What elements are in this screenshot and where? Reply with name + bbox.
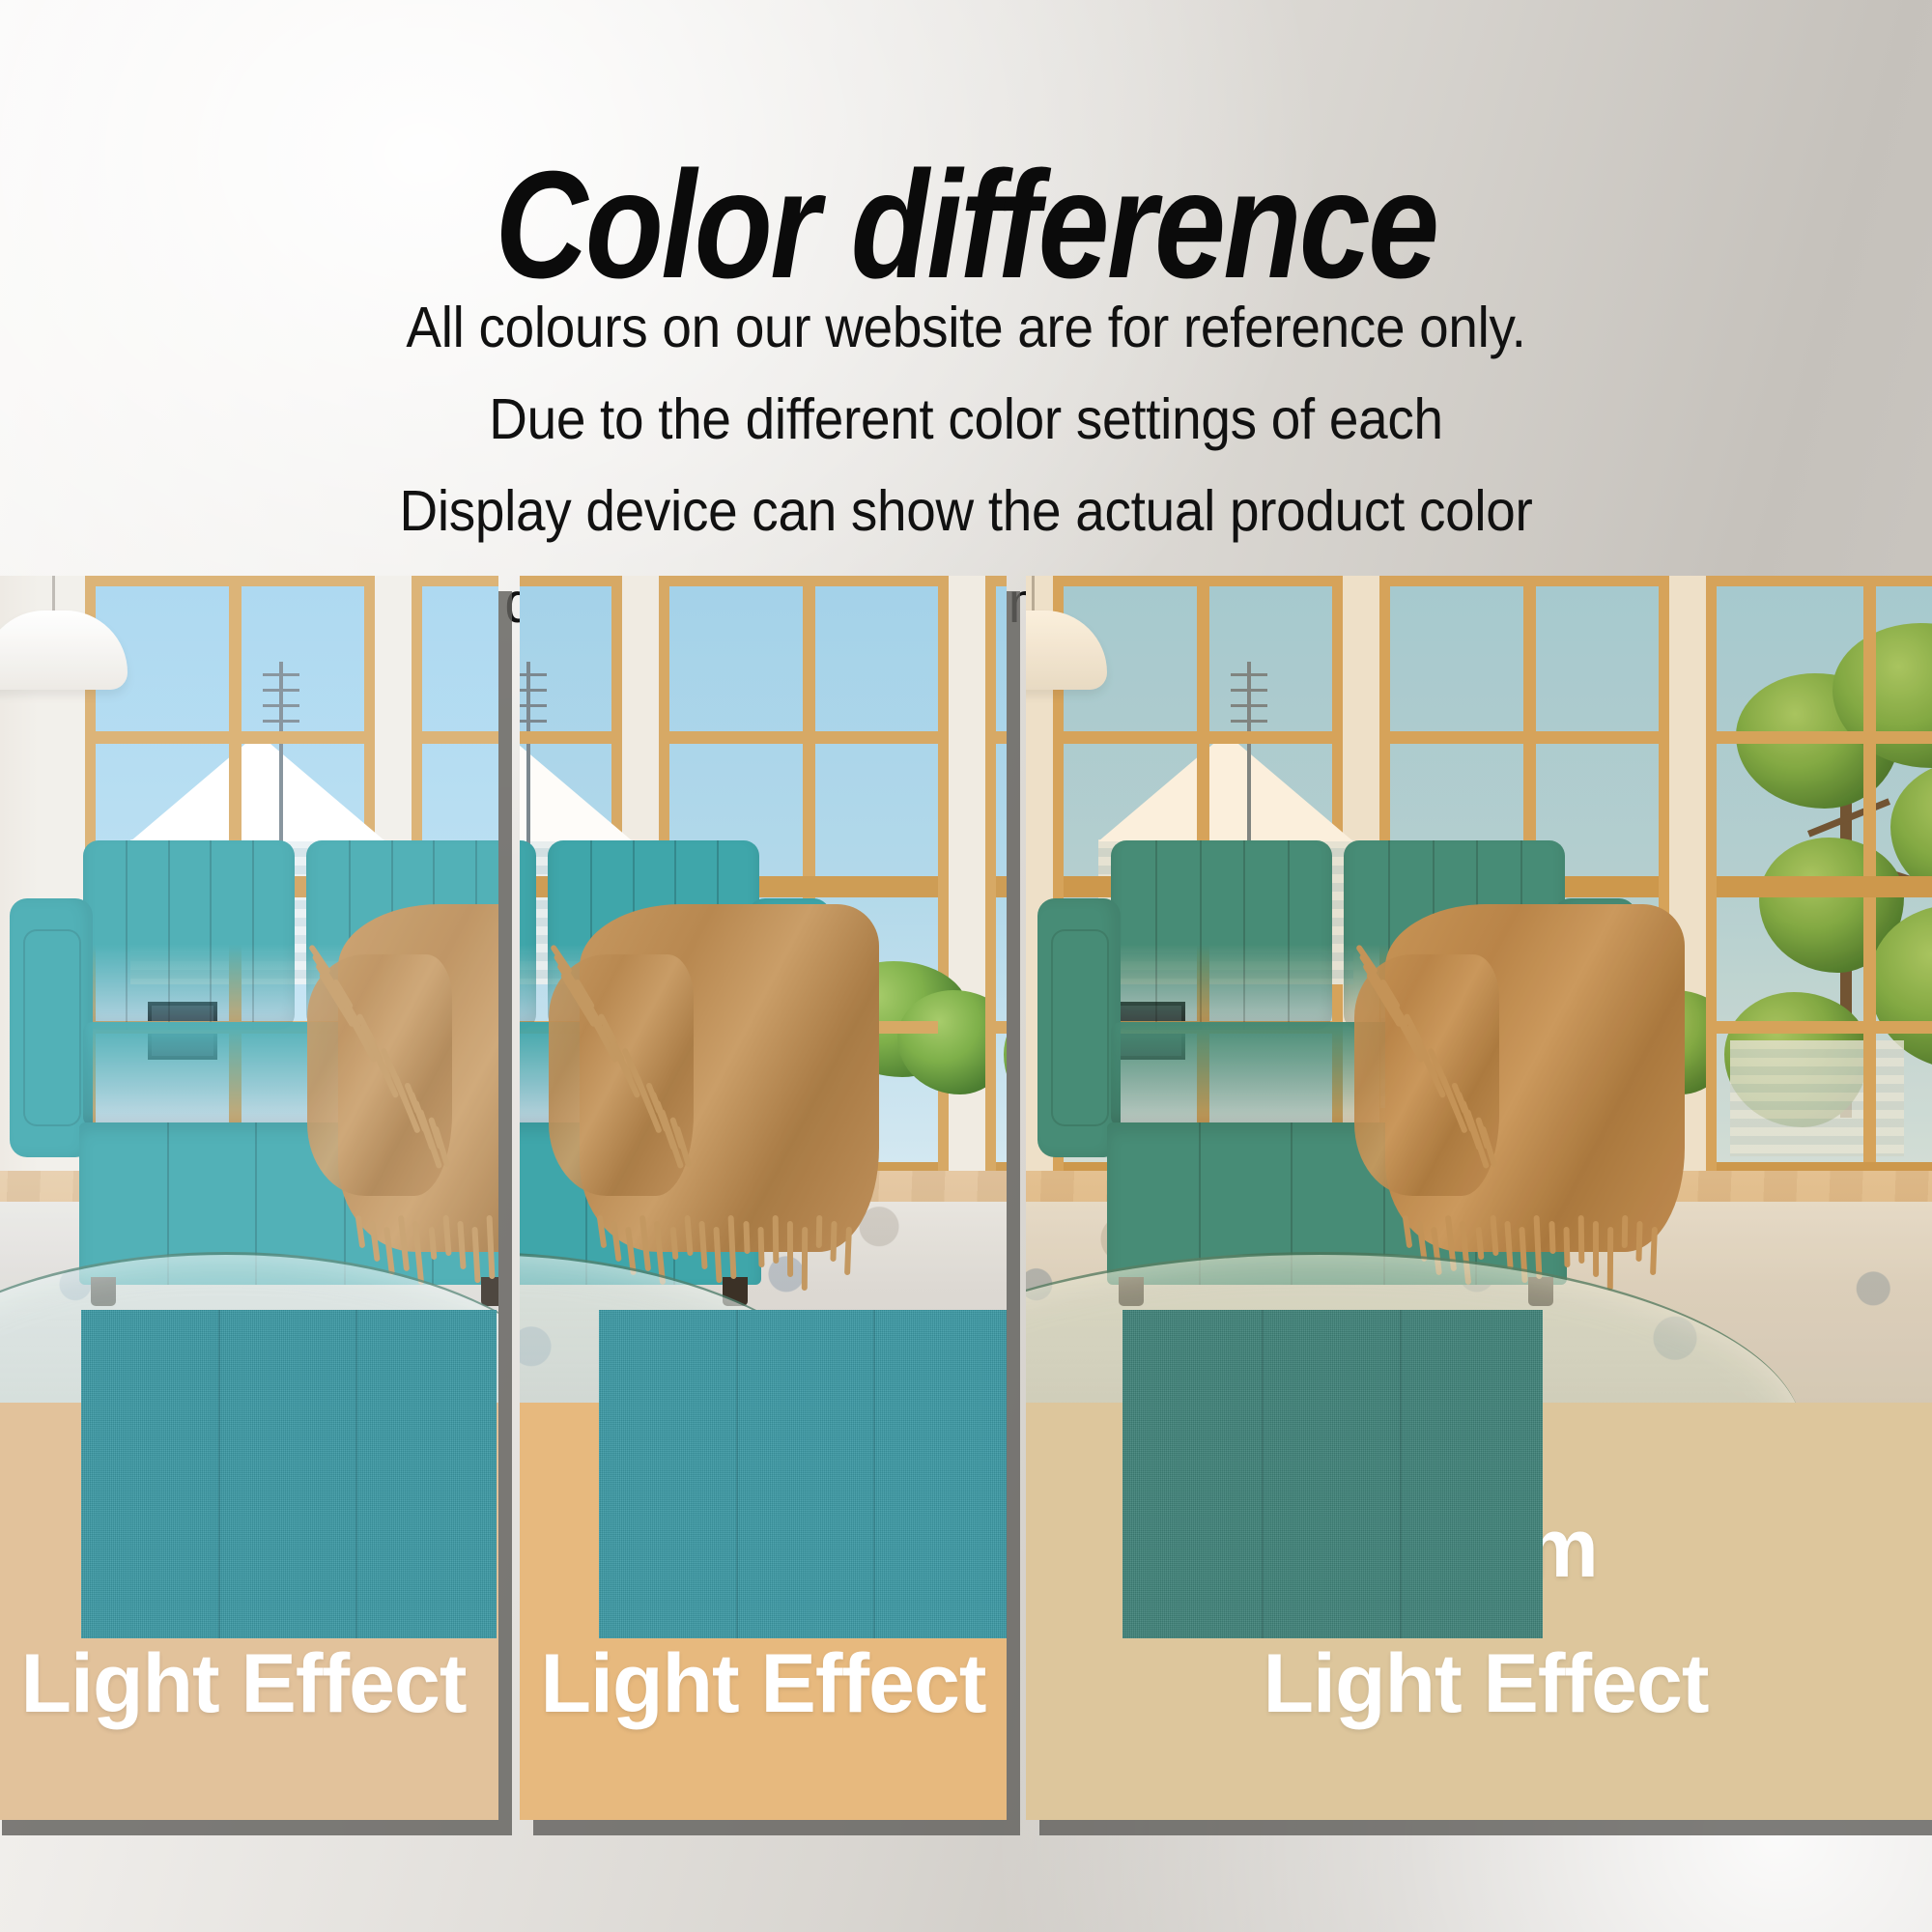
window-mullion-horizontal: [669, 731, 938, 744]
sofa-arm-panel-left: [23, 929, 81, 1126]
foliage: [1004, 992, 1007, 1127]
fabric-swatch-calt[interactable]: [81, 1310, 497, 1638]
blanket-fringe: [1607, 1227, 1613, 1291]
blanket-fringe: [802, 1227, 808, 1291]
page-title: Color difference: [155, 149, 1777, 301]
neighbour-house-gable: [520, 733, 633, 841]
blanket-fringe: [1650, 1227, 1658, 1275]
window-mullion-horizontal: [996, 876, 1007, 897]
light-effect-panel-warm[interactable]: WarmLight Effect: [1026, 576, 1932, 1820]
panel-subtitle-natural: Light Effect: [520, 1642, 1007, 1725]
room-photo-warm: [1026, 576, 1932, 1403]
neighbour-house-body: [1730, 1040, 1904, 1156]
sofa-arm-panel-left: [1051, 929, 1109, 1126]
window-mullion-horizontal: [1717, 731, 1932, 744]
window-mullion-horizontal: [1390, 731, 1659, 744]
swatch-seam: [1262, 1310, 1264, 1638]
light-effect-panel-calt[interactable]: CaltLight Effect: [0, 576, 498, 1820]
cushion-channel: [168, 840, 170, 1030]
window-mullion-horizontal: [520, 731, 611, 744]
cushion-channel: [252, 840, 254, 1030]
description-line-3: Display device can show the actual produ…: [203, 466, 1730, 557]
swatch-seam: [736, 1310, 738, 1638]
neighbour-house-gable: [130, 733, 385, 841]
neighbour-house-gable: [1098, 733, 1353, 841]
blanket-fringe: [773, 1215, 780, 1264]
panel-subtitle-warm: Light Effect: [1026, 1642, 1932, 1725]
blanket-fringe: [830, 1221, 837, 1262]
window-mullion-horizontal: [422, 731, 498, 744]
cushion-channel: [1200, 840, 1202, 1030]
sofa-back-cushion: [1111, 840, 1332, 1030]
room-scene-calt: [0, 576, 498, 1403]
tv-antenna: [279, 662, 283, 845]
window-mullion-horizontal: [996, 1021, 1007, 1034]
window-mullion-horizontal: [96, 731, 364, 744]
cushion-channel: [126, 840, 128, 1030]
comparison-panels: CaltLight EffectNaturalLight EffectWarmL…: [0, 576, 1932, 1820]
blanket-fringe: [816, 1215, 823, 1248]
blanket-fringe: [1563, 1227, 1570, 1267]
room-photo-calt: [0, 576, 498, 1403]
fabric-swatch-warm[interactable]: [1122, 1310, 1543, 1638]
blanket-fringe: [1622, 1215, 1629, 1248]
room-photo-natural: [520, 576, 1007, 1403]
blanket-fringe: [757, 1227, 764, 1267]
window-unit-3: [985, 576, 1007, 1213]
panel-subtitle-calt: Light Effect: [0, 1642, 498, 1725]
cushion-channel: [1243, 840, 1245, 1030]
room-scene-warm: [1026, 576, 1932, 1403]
cushion-channel: [1155, 840, 1157, 1030]
throw-blanket-calt: [299, 904, 498, 1291]
blanket-fringe: [844, 1227, 852, 1275]
room-scene-natural: [520, 576, 1007, 1403]
tv-antenna: [526, 662, 530, 845]
throw-blanket-natural: [541, 904, 947, 1291]
description-line-1: All colours on our website are for refer…: [203, 282, 1730, 374]
light-effect-panel-natural[interactable]: NaturalLight Effect: [520, 576, 1007, 1820]
color-difference-infographic: Color difference All colours on our webs…: [0, 0, 1932, 1932]
blanket-fringe: [1578, 1215, 1585, 1264]
throw-blanket-warm: [1347, 904, 1752, 1291]
tv-antenna: [1247, 662, 1251, 845]
swatch-seam: [1400, 1310, 1402, 1638]
window-mullion-horizontal: [1064, 731, 1332, 744]
fabric-swatch-natural[interactable]: [599, 1310, 1007, 1638]
blanket-fringe: [1635, 1221, 1642, 1262]
cushion-channel: [1288, 840, 1290, 1030]
window-mullion-horizontal: [1717, 876, 1932, 897]
blanket-fringe: [743, 1221, 750, 1254]
swatch-seam: [873, 1310, 875, 1638]
blanket-fringe: [787, 1221, 793, 1277]
description-line-2: Due to the different color settings of e…: [203, 374, 1730, 466]
blanket-fringe: [1593, 1221, 1599, 1277]
sofa-back-cushion: [83, 840, 295, 1030]
cushion-channel: [210, 840, 212, 1030]
window-mullion-horizontal: [996, 731, 1007, 744]
swatch-seam: [355, 1310, 357, 1638]
sofa-back-cushion: [520, 840, 536, 1030]
swatch-seam: [218, 1310, 220, 1638]
blanket-fringe: [1548, 1221, 1555, 1254]
